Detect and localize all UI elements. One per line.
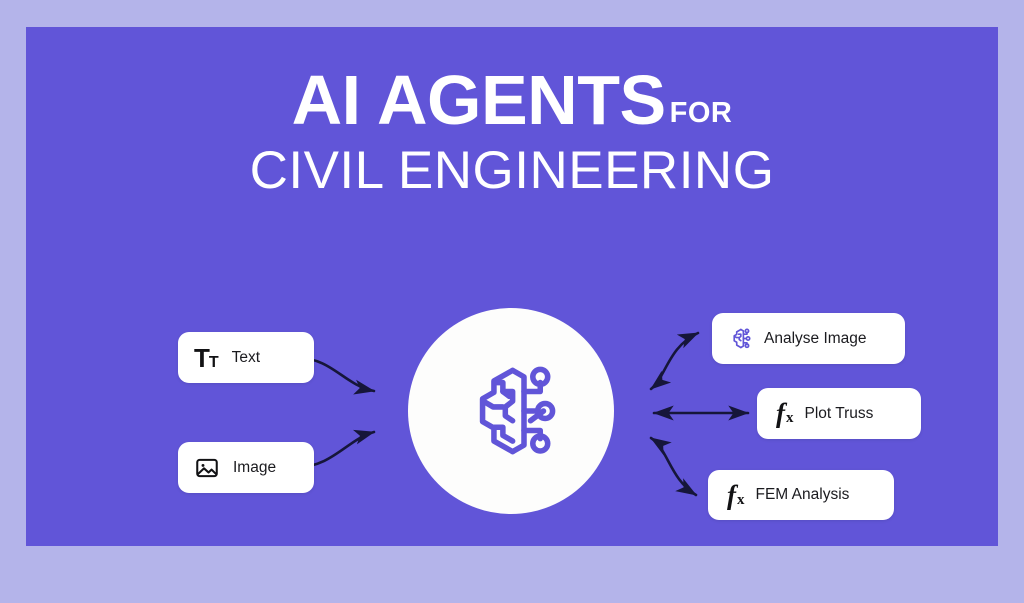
text-format-icon: TT — [194, 345, 219, 371]
page-title: AI AGENTS FOR CIVIL ENGINEERING — [26, 65, 998, 197]
function-fx-icon: fx — [776, 400, 794, 427]
poster-canvas: AI AGENTS FOR CIVIL ENGINEERING — [0, 0, 1024, 576]
image-picture-icon — [194, 455, 220, 481]
title-main-text: AI AGENTS — [292, 65, 666, 135]
input-card-text-label: Text — [232, 349, 260, 367]
ai-brain-circuit-icon — [459, 359, 563, 463]
output-card-plot-truss[interactable]: fx Plot Truss — [757, 388, 921, 439]
function-fx-icon: fx — [727, 482, 745, 509]
input-card-image-label: Image — [233, 459, 276, 477]
connector-hub-to-fem — [651, 438, 696, 495]
ai-agent-hub[interactable] — [408, 308, 614, 514]
output-card-fem-analysis-label: FEM Analysis — [756, 486, 850, 504]
content-panel: AI AGENTS FOR CIVIL ENGINEERING — [26, 27, 998, 546]
ai-brain-circuit-icon — [729, 327, 752, 350]
output-card-analyse-image-label: Analyse Image — [764, 330, 867, 348]
input-card-image[interactable]: Image — [178, 442, 314, 493]
title-subject-text: CIVIL ENGINEERING — [26, 144, 998, 197]
fx-icon-x: x — [737, 493, 745, 508]
output-card-plot-truss-label: Plot Truss — [805, 405, 874, 423]
fx-icon-f: f — [727, 482, 736, 509]
title-line-one: AI AGENTS FOR — [26, 65, 998, 135]
fx-icon-f: f — [776, 400, 785, 427]
text-icon-small-t: T — [209, 355, 219, 371]
fx-icon-x: x — [786, 411, 794, 426]
text-icon-big-t: T — [194, 345, 209, 371]
output-card-fem-analysis[interactable]: fx FEM Analysis — [708, 470, 894, 520]
title-for-text: FOR — [670, 99, 733, 128]
output-card-analyse-image[interactable]: Analyse Image — [712, 313, 905, 364]
input-card-text[interactable]: TT Text — [178, 332, 314, 383]
connector-hub-to-analyse — [651, 333, 698, 389]
